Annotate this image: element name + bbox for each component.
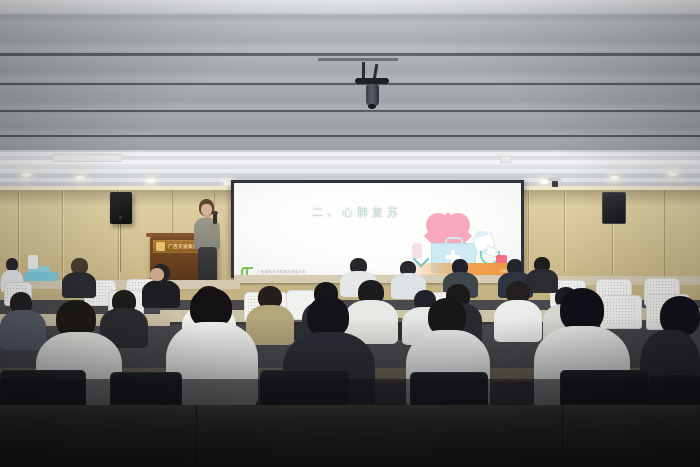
security-camera bbox=[552, 181, 558, 187]
downlight bbox=[146, 179, 155, 183]
downlight bbox=[76, 176, 85, 180]
foreground-desk bbox=[0, 405, 700, 467]
microphone-head bbox=[212, 211, 218, 215]
presenter-trousers bbox=[198, 247, 217, 283]
ceiling-panel bbox=[0, 85, 700, 109]
head bbox=[150, 268, 164, 281]
ceiling-tile bbox=[52, 154, 122, 162]
body bbox=[526, 269, 558, 293]
desk-seam bbox=[196, 405, 197, 467]
wood-seam bbox=[664, 190, 665, 276]
wood-seam bbox=[529, 190, 530, 270]
wall-display bbox=[602, 192, 626, 224]
foreground-shadow bbox=[0, 379, 700, 405]
projector-rail bbox=[318, 58, 398, 61]
body bbox=[142, 280, 180, 308]
ceiling-panel bbox=[0, 14, 700, 52]
slide-title: 二、心肺复苏 bbox=[312, 204, 402, 220]
ceiling-vent bbox=[500, 156, 511, 163]
downlight bbox=[610, 176, 619, 180]
ceiling-panel bbox=[0, 112, 700, 134]
body bbox=[494, 300, 542, 342]
body bbox=[0, 310, 46, 350]
organization-emblem-icon bbox=[156, 242, 165, 251]
ceiling-light-strip bbox=[0, 0, 700, 14]
projection-screen: 二、心肺复苏 广西照料大学附属医院急诊科 心肺复苏 bbox=[234, 183, 521, 276]
desk-seam bbox=[562, 405, 563, 467]
speaker-driver bbox=[119, 216, 122, 219]
paper-sheet bbox=[28, 255, 38, 269]
wood-seam bbox=[565, 190, 566, 272]
wood-seam bbox=[63, 190, 64, 286]
downlight bbox=[668, 172, 677, 176]
downlight bbox=[22, 173, 31, 177]
body bbox=[62, 272, 96, 298]
projector-lens bbox=[368, 104, 376, 109]
body bbox=[246, 305, 294, 345]
laptop-base bbox=[23, 272, 59, 281]
wall-speaker bbox=[110, 192, 132, 224]
conference-room-photo: 二、心肺复苏 广西照料大学附属医院急诊科 心肺复苏 bbox=[0, 0, 700, 467]
speaker-cable bbox=[120, 222, 121, 272]
ceiling-strip bbox=[0, 169, 700, 173]
organization-logo-icon bbox=[241, 267, 253, 274]
